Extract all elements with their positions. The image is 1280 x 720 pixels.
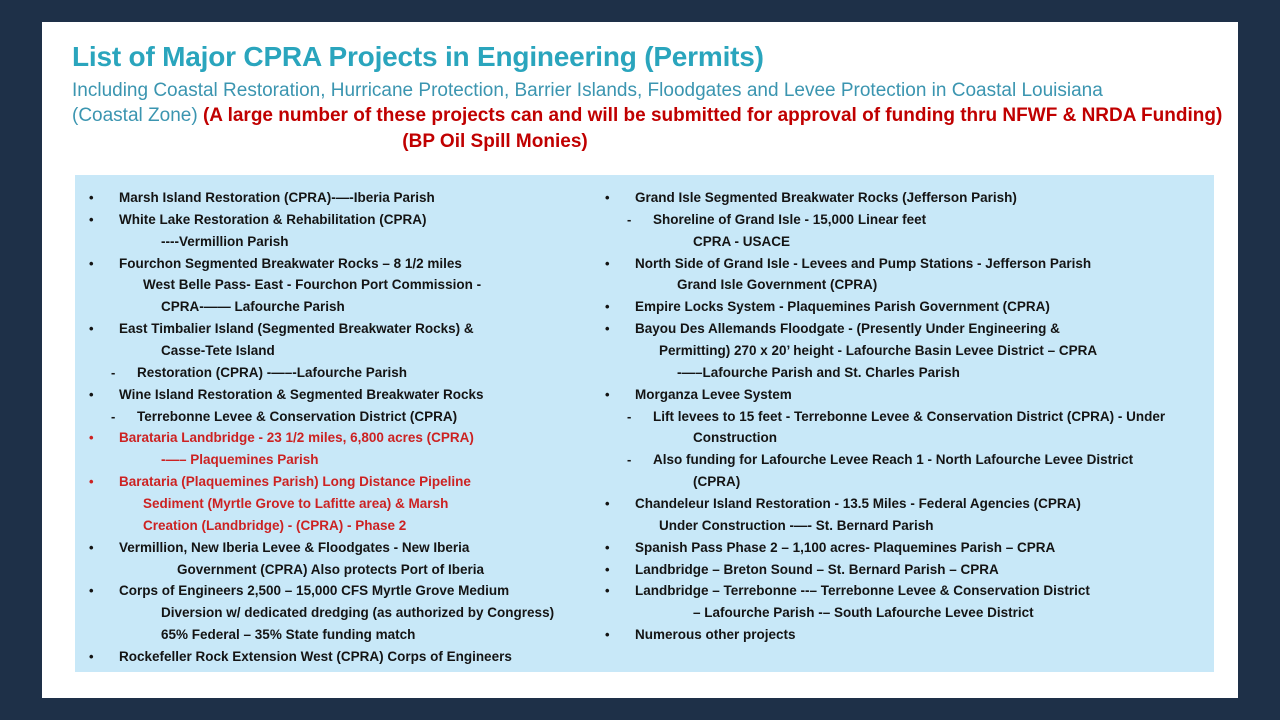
list-item-label: Bayou Des Allemands Floodgate - (Present… bbox=[635, 318, 1060, 340]
list-item-continuation: ----Vermillion Parish bbox=[83, 231, 595, 253]
list-item-label: East Timbalier Island (Segmented Breakwa… bbox=[119, 318, 474, 340]
list-item-continuation: Permitting) 270 x 20’ height - Lafourche… bbox=[599, 340, 1210, 362]
list-item: •Vermillion, New Iberia Levee & Floodgat… bbox=[83, 537, 595, 559]
list-item: •Fourchon Segmented Breakwater Rocks – 8… bbox=[83, 253, 595, 275]
list-item-label: North Side of Grand Isle - Levees and Pu… bbox=[635, 253, 1091, 275]
list-item-continuation: -—– Plaquemines Parish bbox=[83, 449, 595, 471]
bullet-dash-icon: ‐ bbox=[111, 362, 137, 383]
list-item-label: -—–Lafourche Parish and St. Charles Pari… bbox=[677, 362, 960, 384]
list-item-label: Grand Isle Segmented Breakwater Rocks (J… bbox=[635, 187, 1017, 209]
bullet-dot-icon: • bbox=[89, 471, 119, 492]
list-item: •Morganza Levee System bbox=[599, 384, 1210, 406]
list-item: ‐Restoration (CPRA) -—–-Lafourche Parish bbox=[83, 362, 595, 384]
list-item: •Bayou Des Allemands Floodgate - (Presen… bbox=[599, 318, 1210, 340]
list-item-label: Landbridge – Terrebonne --– Terrebonne L… bbox=[635, 580, 1090, 602]
bullet-dot-icon: • bbox=[605, 318, 635, 339]
coastal-zone-label: (Coastal Zone) bbox=[72, 105, 198, 126]
list-item: •Numerous other projects bbox=[599, 624, 1210, 646]
list-item-label: Diversion w/ dedicated dredging (as auth… bbox=[161, 602, 554, 624]
list-item-label: Also funding for Lafourche Levee Reach 1… bbox=[653, 449, 1133, 471]
list-item-continuation: Sediment (Myrtle Grove to Lafitte area) … bbox=[83, 493, 595, 515]
bullet-dot-icon: • bbox=[89, 187, 119, 208]
bullet-dot-icon: • bbox=[605, 253, 635, 274]
list-item-continuation: Casse-Tete Island bbox=[83, 340, 595, 362]
bullet-dash-icon: ‐ bbox=[627, 449, 653, 470]
list-item-label: Permitting) 270 x 20’ height - Lafourche… bbox=[659, 340, 1097, 362]
list-item-continuation: CPRA-—— Lafourche Parish bbox=[83, 296, 595, 318]
bullet-dot-icon: • bbox=[89, 384, 119, 405]
list-item: •Marsh Island Restoration (CPRA)-—-Iberi… bbox=[83, 187, 595, 209]
list-item-label: 65% Federal – 35% State funding match bbox=[161, 624, 415, 646]
subtitle-funding-line: (Coastal Zone) (A large number of these … bbox=[72, 103, 1208, 129]
bullet-dash-icon: ‐ bbox=[627, 209, 653, 230]
list-item: •Rockefeller Rock Extension West (CPRA) … bbox=[83, 646, 595, 668]
bullet-dot-icon: • bbox=[89, 427, 119, 448]
bullet-dash-icon: ‐ bbox=[627, 406, 653, 427]
list-item-label: Corps of Engineers 2,500 – 15,000 CFS My… bbox=[119, 580, 509, 602]
list-item-continuation: Grand Isle Government (CPRA) bbox=[599, 274, 1210, 296]
list-item: ‐Lift levees to 15 feet - Terrebonne Lev… bbox=[599, 406, 1210, 428]
list-item-label: Landbridge – Breton Sound – St. Bernard … bbox=[635, 559, 999, 581]
bullet-dot-icon: • bbox=[89, 537, 119, 558]
list-item: •Wine Island Restoration & Segmented Bre… bbox=[83, 384, 595, 406]
list-item: ‐Shoreline of Grand Isle - 15,000 Linear… bbox=[599, 209, 1210, 231]
list-item-label: Terrebonne Levee & Conservation District… bbox=[137, 406, 457, 428]
list-item-continuation: 65% Federal – 35% State funding match bbox=[83, 624, 595, 646]
list-item: •North Side of Grand Isle - Levees and P… bbox=[599, 253, 1210, 275]
list-item-label: Grand Isle Government (CPRA) bbox=[677, 274, 877, 296]
list-item-label: Chandeleur Island Restoration - 13.5 Mil… bbox=[635, 493, 1081, 515]
list-item: •Spanish Pass Phase 2 – 1,100 acres- Pla… bbox=[599, 537, 1210, 559]
bullet-dot-icon: • bbox=[605, 559, 635, 580]
list-item: •Grand Isle Segmented Breakwater Rocks (… bbox=[599, 187, 1210, 209]
list-item: •Landbridge – Terrebonne --– Terrebonne … bbox=[599, 580, 1210, 602]
list-item-label: West Belle Pass- East - Fourchon Port Co… bbox=[143, 274, 481, 296]
bullet-dot-icon: • bbox=[605, 624, 635, 645]
list-item: •Empire Locks System - Plaquemines Paris… bbox=[599, 296, 1210, 318]
list-item-label: – Lafourche Parish -– South Lafourche Le… bbox=[693, 602, 1034, 624]
list-item-label: White Lake Restoration & Rehabilitation … bbox=[119, 209, 427, 231]
bp-oil-spill-note: (BP Oil Spill Monies) bbox=[72, 129, 1208, 155]
list-item-label: Construction bbox=[693, 427, 777, 449]
list-item-label: Empire Locks System - Plaquemines Parish… bbox=[635, 296, 1050, 318]
list-item-continuation: -—–Lafourche Parish and St. Charles Pari… bbox=[599, 362, 1210, 384]
list-item-label: Barataria Landbridge - 23 1/2 miles, 6,8… bbox=[119, 427, 474, 449]
list-item-label: CPRA-—— Lafourche Parish bbox=[161, 296, 345, 318]
list-item-label: Marsh Island Restoration (CPRA)-—-Iberia… bbox=[119, 187, 435, 209]
list-item-label: Morganza Levee System bbox=[635, 384, 792, 406]
list-item-continuation: West Belle Pass- East - Fourchon Port Co… bbox=[83, 274, 595, 296]
list-item: •East Timbalier Island (Segmented Breakw… bbox=[83, 318, 595, 340]
list-item-continuation: Creation (Landbridge) - (CPRA) - Phase 2 bbox=[83, 515, 595, 537]
list-item-label: Lift levees to 15 feet - Terrebonne Leve… bbox=[653, 406, 1165, 428]
list-item-label: Fourchon Segmented Breakwater Rocks – 8 … bbox=[119, 253, 462, 275]
page-title: List of Major CPRA Projects in Engineeri… bbox=[72, 40, 1208, 74]
list-item: •Landbridge – Breton Sound – St. Bernard… bbox=[599, 559, 1210, 581]
list-item: •White Lake Restoration & Rehabilitation… bbox=[83, 209, 595, 231]
list-item-label: Vermillion, New Iberia Levee & Floodgate… bbox=[119, 537, 469, 559]
funding-note: (A large number of these projects can an… bbox=[203, 105, 1222, 126]
list-item: •Chandeleur Island Restoration - 13.5 Mi… bbox=[599, 493, 1210, 515]
list-item-label: Government (CPRA) Also protects Port of … bbox=[177, 559, 484, 581]
list-item-label: -—– Plaquemines Parish bbox=[161, 449, 319, 471]
bullet-dot-icon: • bbox=[89, 580, 119, 601]
bullet-dot-icon: • bbox=[89, 646, 119, 667]
list-item-label: Barataria (Plaquemines Parish) Long Dist… bbox=[119, 471, 471, 493]
list-item-label: (CPRA) bbox=[693, 471, 740, 493]
list-item-continuation: Government (CPRA) Also protects Port of … bbox=[83, 559, 595, 581]
list-item-label: Numerous other projects bbox=[635, 624, 796, 646]
list-item: ‐Also funding for Lafourche Levee Reach … bbox=[599, 449, 1210, 471]
list-item-label: CPRA - USACE bbox=[693, 231, 790, 253]
list-item: •Barataria Landbridge - 23 1/2 miles, 6,… bbox=[83, 427, 595, 449]
list-item-continuation: Under Construction -—- St. Bernard Paris… bbox=[599, 515, 1210, 537]
list-item-label: Spanish Pass Phase 2 – 1,100 acres- Plaq… bbox=[635, 537, 1055, 559]
projects-column-left: •Marsh Island Restoration (CPRA)-—-Iberi… bbox=[75, 183, 595, 672]
bullet-dot-icon: • bbox=[605, 580, 635, 601]
list-item-label: Shoreline of Grand Isle - 15,000 Linear … bbox=[653, 209, 926, 231]
list-item-label: Creation (Landbridge) - (CPRA) - Phase 2 bbox=[143, 515, 406, 537]
list-item-continuation: CPRA - USACE bbox=[599, 231, 1210, 253]
bullet-dash-icon: ‐ bbox=[111, 406, 137, 427]
list-item: ‐Terrebonne Levee & Conservation Distric… bbox=[83, 406, 595, 428]
list-item-label: Casse-Tete Island bbox=[161, 340, 275, 362]
list-item-continuation: – Lafourche Parish -– South Lafourche Le… bbox=[599, 602, 1210, 624]
projects-column-right: •Grand Isle Segmented Breakwater Rocks (… bbox=[595, 183, 1210, 672]
list-item-label: Under Construction -—- St. Bernard Paris… bbox=[659, 515, 934, 537]
list-item-continuation: Construction bbox=[599, 427, 1210, 449]
list-item-label: ----Vermillion Parish bbox=[161, 231, 289, 253]
title-block: List of Major CPRA Projects in Engineeri… bbox=[42, 22, 1238, 155]
list-item-label: Rockefeller Rock Extension West (CPRA) C… bbox=[119, 646, 512, 668]
bullet-dot-icon: • bbox=[605, 384, 635, 405]
bullet-dot-icon: • bbox=[605, 296, 635, 317]
list-item: •Barataria (Plaquemines Parish) Long Dis… bbox=[83, 471, 595, 493]
slide-canvas: List of Major CPRA Projects in Engineeri… bbox=[42, 22, 1238, 698]
list-item-label: Wine Island Restoration & Segmented Brea… bbox=[119, 384, 483, 406]
bullet-dot-icon: • bbox=[605, 493, 635, 514]
bullet-dot-icon: • bbox=[605, 187, 635, 208]
bullet-dot-icon: • bbox=[89, 318, 119, 339]
list-item-label: Sediment (Myrtle Grove to Lafitte area) … bbox=[143, 493, 448, 515]
list-item-label: Restoration (CPRA) -—–-Lafourche Parish bbox=[137, 362, 407, 384]
subtitle-scope-line: Including Coastal Restoration, Hurricane… bbox=[72, 78, 1208, 104]
bullet-dot-icon: • bbox=[605, 537, 635, 558]
projects-panel: •Marsh Island Restoration (CPRA)-—-Iberi… bbox=[75, 175, 1214, 672]
bullet-dot-icon: • bbox=[89, 253, 119, 274]
list-item-continuation: Diversion w/ dedicated dredging (as auth… bbox=[83, 602, 595, 624]
list-item-continuation: (CPRA) bbox=[599, 471, 1210, 493]
bullet-dot-icon: • bbox=[89, 209, 119, 230]
list-item: •Corps of Engineers 2,500 – 15,000 CFS M… bbox=[83, 580, 595, 602]
